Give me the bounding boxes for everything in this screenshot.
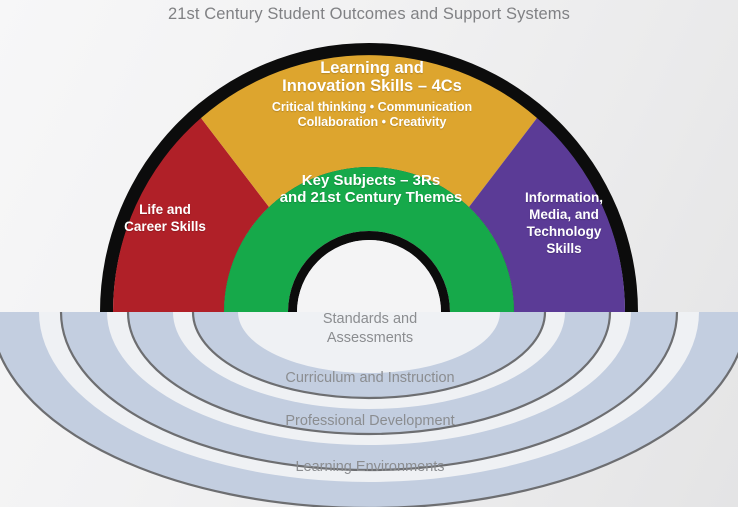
support-band-label-learning-environments: Learning Environments: [229, 459, 511, 475]
support-band-label-professional-development: Professional Development: [229, 413, 511, 429]
diagram-canvas: 21st Century Student Outcomes and Suppor…: [0, 0, 738, 507]
arc-label-life-line-2: Career Skills: [124, 219, 206, 234]
support-band-label-standards-line-2: Assessments: [327, 330, 413, 346]
arc-label-learning-sub-2: Collaboration • Creativity: [244, 115, 500, 130]
arc-label-life-line-1: Life and: [139, 202, 191, 217]
arc-label-key-line-2: and 21st Century Themes: [280, 189, 463, 206]
arc-label-key-line-1: Key Subjects – 3Rs: [302, 172, 440, 189]
support-band-label-curriculum: Curriculum and Instruction: [229, 370, 511, 386]
arc-label-learning-line-2: Innovation Skills – 4Cs: [244, 77, 500, 95]
arc-label-learning-innovation: Learning and Innovation Skills – 4Cs Cri…: [244, 59, 500, 130]
arc-label-info-line-4: Skills: [546, 241, 581, 256]
arc-label-information-media-technology: Information, Media, and Technology Skill…: [505, 190, 623, 258]
arc-label-info-line-2: Media, and: [529, 207, 599, 222]
arc-label-learning-line-1: Learning and: [244, 59, 500, 77]
arc-label-info-line-3: Technology: [527, 224, 602, 239]
arc-label-life-career: Life and Career Skills: [110, 202, 220, 236]
arc-label-learning-sub-1: Critical thinking • Communication: [244, 100, 500, 115]
page-title: 21st Century Student Outcomes and Suppor…: [0, 5, 738, 24]
support-band-label-standards: Standards and Assessments: [249, 310, 491, 349]
support-band-label-standards-line-1: Standards and: [323, 311, 417, 327]
arc-label-key-subjects: Key Subjects – 3Rs and 21st Century Them…: [261, 173, 481, 207]
arc-label-info-line-1: Information,: [525, 190, 603, 205]
